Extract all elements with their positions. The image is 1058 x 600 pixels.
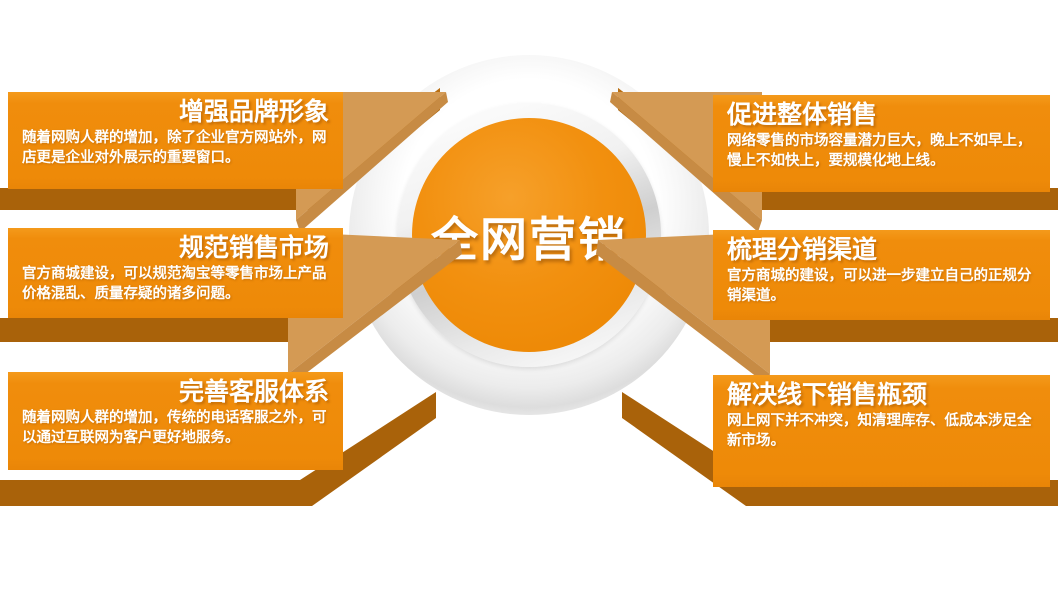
panel-left-3[interactable]: 完善客服体系 随着网购人群的增加，传统的电话客服之外，可以通过互联网为客户更好地… xyxy=(8,372,343,470)
panel-right-1[interactable]: 促进整体销售 网络零售的市场容量潜力巨大，晚上不如早上，慢上不如快上，要规模化地… xyxy=(713,95,1050,192)
panel-title: 梳理分销渠道 xyxy=(727,236,1036,266)
panel-description: 网上网下并不冲突，知清理库存、低成本涉足全新市场。 xyxy=(727,411,1036,452)
panel-title: 促进整体销售 xyxy=(727,101,1036,131)
panel-description: 随着网购人群的增加，传统的电话客服之外，可以通过互联网为客户更好地服务。 xyxy=(22,408,329,449)
panel-title: 增强品牌形象 xyxy=(22,98,329,128)
panel-title: 完善客服体系 xyxy=(22,378,329,408)
panel-right-3[interactable]: 解决线下销售瓶颈 网上网下并不冲突，知清理库存、低成本涉足全新市场。 xyxy=(713,375,1050,487)
marketing-diagram: 全网营销 xyxy=(0,0,1058,600)
panel-title: 规范销售市场 xyxy=(22,234,329,264)
panel-right-2[interactable]: 梳理分销渠道 官方商城的建设，可以进一步建立自己的正规分销渠道。 xyxy=(713,230,1050,320)
panel-description: 官方商城建设，可以规范淘宝等零售市场上产品价格混乱、质量存疑的诸多问题。 xyxy=(22,264,329,305)
panel-left-1[interactable]: 增强品牌形象 随着网购人群的增加，除了企业官方网站外，网店更是企业对外展示的重要… xyxy=(8,92,343,189)
panel-description: 随着网购人群的增加，除了企业官方网站外，网店更是企业对外展示的重要窗口。 xyxy=(22,128,329,169)
panel-description: 官方商城的建设，可以进一步建立自己的正规分销渠道。 xyxy=(727,266,1036,307)
panel-title: 解决线下销售瓶颈 xyxy=(727,381,1036,411)
panel-description: 网络零售的市场容量潜力巨大，晚上不如早上，慢上不如快上，要规模化地上线。 xyxy=(727,131,1036,172)
panel-left-2[interactable]: 规范销售市场 官方商城建设，可以规范淘宝等零售市场上产品价格混乱、质量存疑的诸多… xyxy=(8,228,343,318)
